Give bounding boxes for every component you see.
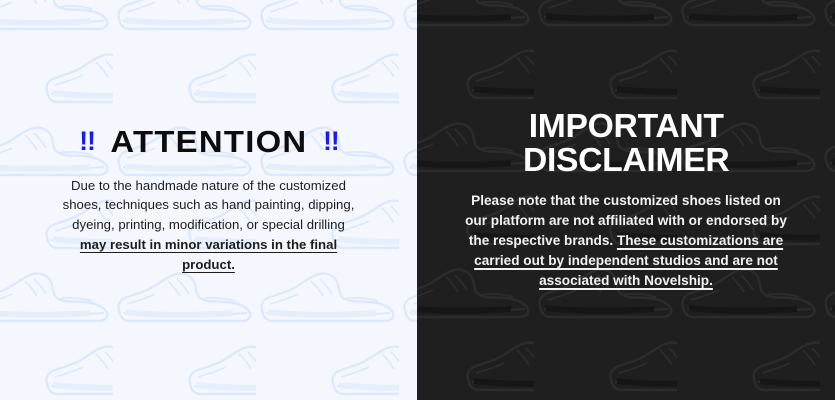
attention-heading-text: ATTENTION bbox=[110, 126, 307, 157]
promo-banner: !! ATTENTION !! Due to the handmade natu… bbox=[0, 0, 835, 400]
attention-panel: !! ATTENTION !! Due to the handmade natu… bbox=[0, 0, 417, 400]
attention-body: Due to the handmade nature of the custom… bbox=[59, 176, 359, 275]
exclamation-right-icon: !! bbox=[323, 128, 339, 155]
attention-body-emphasis: may result in minor variations in the fi… bbox=[80, 237, 337, 272]
disclaimer-body: Please note that the customized shoes li… bbox=[465, 191, 787, 291]
exclamation-left-icon: !! bbox=[79, 128, 95, 155]
attention-heading: !! ATTENTION !! bbox=[78, 126, 339, 157]
disclaimer-heading: IMPORTANT DISCLAIMER bbox=[523, 109, 729, 176]
disclaimer-heading-line1: IMPORTANT bbox=[523, 109, 729, 143]
disclaimer-heading-line2: DISCLAIMER bbox=[523, 143, 729, 177]
disclaimer-panel: IMPORTANT DISCLAIMER Please note that th… bbox=[417, 0, 835, 400]
attention-content: !! ATTENTION !! Due to the handmade natu… bbox=[0, 0, 417, 400]
attention-body-regular: Due to the handmade nature of the custom… bbox=[63, 178, 355, 233]
disclaimer-content: IMPORTANT DISCLAIMER Please note that th… bbox=[417, 0, 835, 400]
